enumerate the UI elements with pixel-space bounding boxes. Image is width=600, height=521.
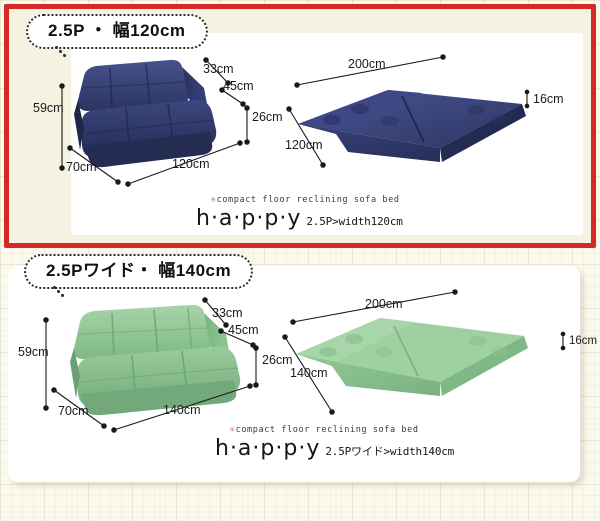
dim-panel140-seat-height: 26cm (262, 353, 293, 367)
brand-tagline-120: ✳compact floor reclining sofa bed (210, 194, 403, 205)
dim-panel140-bed-width: 140cm (290, 366, 328, 380)
dim-panel120-backrest-top: 33cm (203, 62, 234, 76)
dim-panel120-depth: 70cm (66, 160, 97, 174)
dim-panel140-depth: 70cm (58, 404, 89, 418)
dim-panel120-bed-width: 120cm (285, 138, 323, 152)
brand-variant-120: 2.5P>width120cm (306, 215, 402, 228)
asterisk-icon: ✳ (210, 194, 217, 205)
dim-panel120-height: 59cm (33, 101, 64, 115)
dim-panel140-backrest-depth: 45cm (228, 323, 259, 337)
dim-panel140-bed-length: 200cm (365, 297, 403, 311)
panel-120-title-pill: 2.5P ・ 幅120cm (26, 14, 208, 49)
brand-logo-140: h·a·p·p·y (215, 436, 320, 461)
bed-illustration-green (288, 300, 538, 410)
dim-panel120-seat-height: 26cm (252, 110, 283, 124)
panel-140-title: 2.5Pワイド・ 幅140cm (46, 261, 231, 280)
brand-variant-140: 2.5Pワイド>width140cm (325, 443, 454, 459)
brand-block-140: ✳compact floor reclining sofa bed h·a·p·… (215, 424, 454, 461)
pill-tail-icon (54, 46, 70, 60)
panel-140-title-pill: 2.5Pワイド・ 幅140cm (24, 254, 253, 289)
panel-120-title: 2.5P ・ 幅120cm (48, 21, 186, 40)
pill-tail-icon (52, 286, 68, 300)
dim-panel120-backrest-depth: 45cm (223, 79, 254, 93)
dim-panel120-bed-length: 200cm (348, 57, 386, 71)
dim-panel140-bed-thickness: 16cm (569, 335, 597, 347)
brand-logo-120: h·a·p·p·y (196, 206, 301, 231)
brand-block-120: ✳compact floor reclining sofa bed h·a·p·… (196, 194, 403, 231)
dim-panel140-backrest-top: 33cm (212, 306, 243, 320)
dim-panel120-bed-thickness: 16cm (533, 92, 564, 106)
dim-panel120-width: 120cm (172, 157, 210, 171)
asterisk-icon: ✳ (229, 424, 236, 435)
dim-panel140-width: 140cm (163, 403, 201, 417)
brand-tagline-140: ✳compact floor reclining sofa bed (229, 424, 454, 435)
bed-illustration-navy (290, 72, 540, 182)
dim-panel140-height: 59cm (18, 345, 49, 359)
